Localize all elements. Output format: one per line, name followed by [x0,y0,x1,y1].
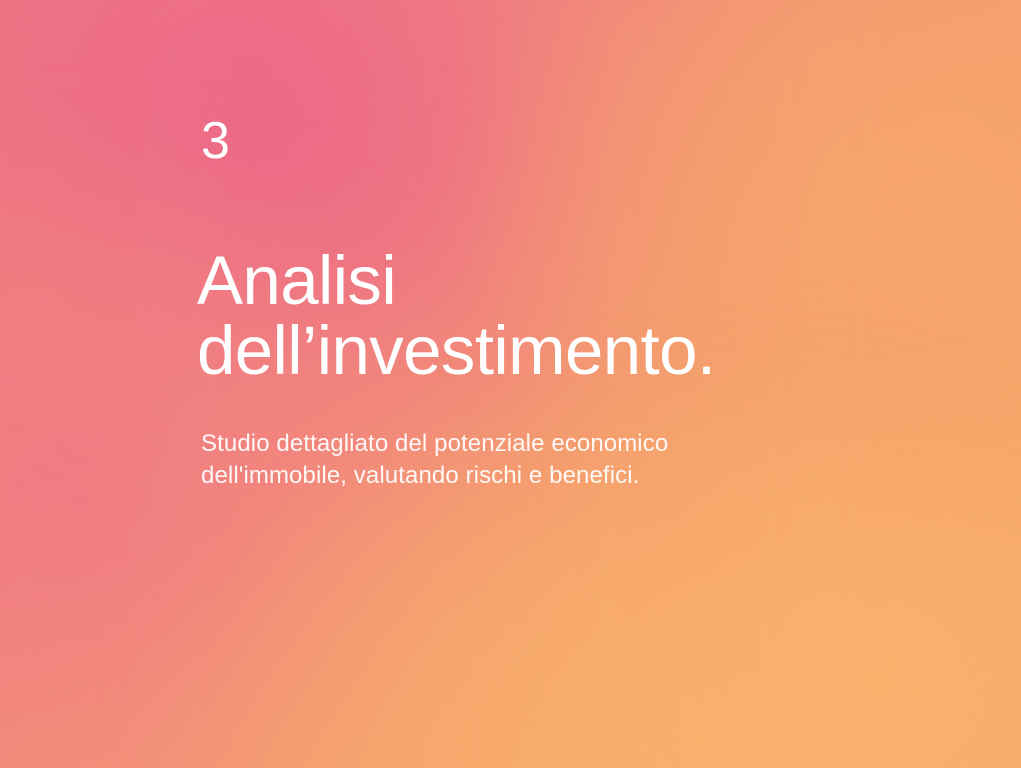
presentation-slide: 3 Analisi dell’investimento. Studio dett… [0,0,1021,768]
page-title-line-1: Analisi [197,246,715,316]
section-number: 3 [201,112,230,170]
page-title-line-2: dell’investimento. [197,316,715,386]
page-subtitle: Studio dettagliato del potenziale econom… [201,428,668,492]
page-title: Analisi dell’investimento. [197,246,715,386]
page-subtitle-line-1: Studio dettagliato del potenziale econom… [201,428,668,460]
page-subtitle-line-2: dell'immobile, valutando rischi e benefi… [201,460,668,492]
slide-content: 3 Analisi dell’investimento. Studio dett… [201,0,961,768]
